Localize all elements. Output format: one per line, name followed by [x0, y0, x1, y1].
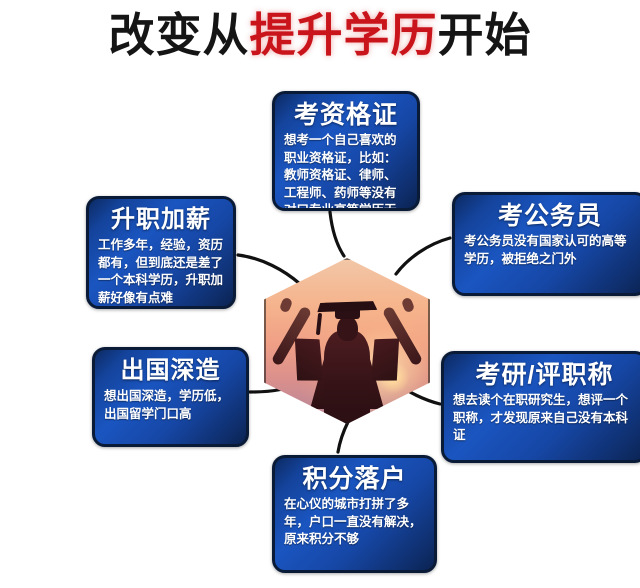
- study-abroad-card[interactable]: 出国深造 想出国深造，学历低，出国留学门口高: [92, 347, 249, 447]
- card-title: 出国深造: [104, 356, 237, 386]
- card-body: 想去读个在职研究生，想评一个职称，才发现原来自己没有本科证: [453, 392, 636, 445]
- connector-line-points-residence: [338, 422, 348, 452]
- card-body: 在心仪的城市打拼了多年，户口一直没有解决，原来积分不够: [284, 496, 425, 549]
- card-title: 积分落户: [284, 464, 425, 494]
- card-body: 想出国深造，学历低，出国留学门口高: [104, 388, 237, 423]
- points-residence-card[interactable]: 积分落户 在心仪的城市打拼了多年，户口一直没有解决，原来积分不够: [272, 455, 437, 573]
- postgraduate-title-card[interactable]: 考研/评职称 想去读个在职研究生，想评一个职称，才发现原来自己没有本科证: [441, 351, 640, 463]
- infographic-canvas: 改变从提升学历开始: [0, 0, 640, 588]
- exam-qualification-card[interactable]: 考资格证 想考一个自己喜欢的职业资格证，比如：教师资格证、律师、工程师、药师等没…: [272, 91, 420, 211]
- card-title: 考公务员: [464, 201, 636, 231]
- card-title: 升职加薪: [98, 205, 224, 235]
- center-hexagon-image: [264, 258, 430, 424]
- card-body: 想考一个自己喜欢的职业资格证，比如：教师资格证、律师、工程师、药师等没有对口专业…: [284, 132, 408, 211]
- card-body: 考公务员没有国家认可的高等学历，被拒绝之门外: [464, 233, 636, 268]
- card-body: 工作多年，经验，资历都有，但到底还是差了一个本科学历，升职加薪好像有点难: [98, 237, 224, 307]
- card-title: 考研/评职称: [453, 360, 636, 390]
- card-title: 考资格证: [284, 100, 408, 130]
- graduate-silhouette: [264, 258, 430, 424]
- civil-servant-exam-card[interactable]: 考公务员 考公务员没有国家认可的高等学历，被拒绝之门外: [452, 192, 640, 296]
- connector-line-qualification: [330, 212, 344, 256]
- promotion-raise-card[interactable]: 升职加薪 工作多年，经验，资历都有，但到底还是差了一个本科学历，升职加薪好像有点…: [86, 196, 236, 309]
